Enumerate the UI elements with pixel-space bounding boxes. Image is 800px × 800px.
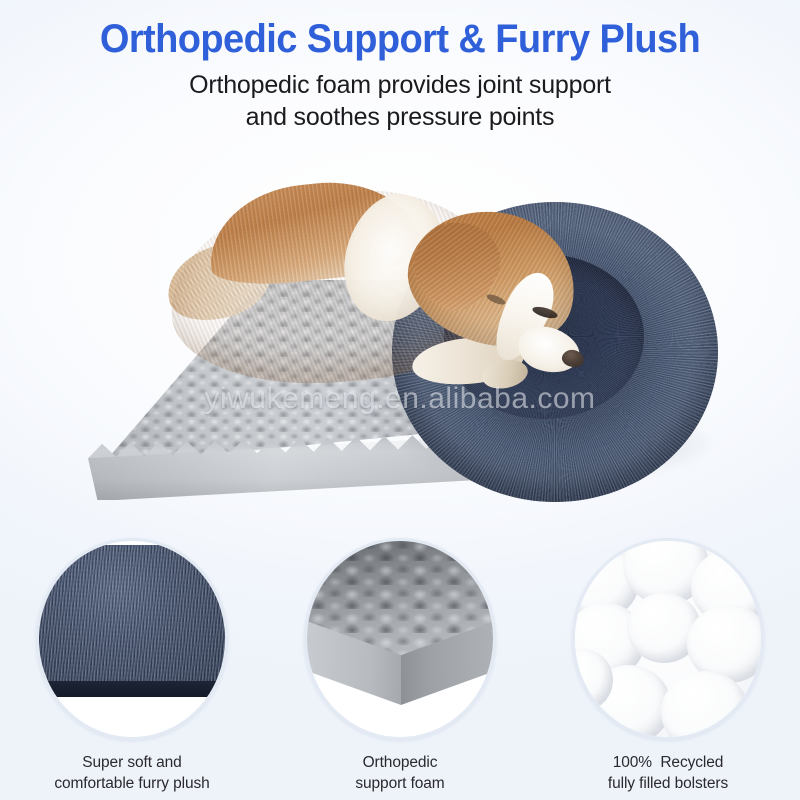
feature-caption-fiberfill: 100% Recycled fully filled bolsters [562, 752, 774, 794]
feature-item-fiberfill: 100% Recycled fully filled bolsters [562, 530, 774, 794]
feature-item-foam: Orthopedic support foam [294, 530, 506, 794]
page-title: Orthopedic Support & Furry Plush [20, 15, 780, 63]
plush-swatch-edge [36, 681, 228, 697]
page-subtitle: Orthopedic foam provides joint support a… [0, 69, 800, 133]
caption-line-2: support foam [294, 773, 506, 794]
caption-line-1: 100% Recycled [562, 752, 774, 773]
caption-line-2: comfortable furry plush [26, 773, 238, 794]
hero-product-image: yiwukemeng.en.alibaba.com [0, 150, 800, 530]
product-infographic-page: Orthopedic Support & Furry Plush Orthope… [0, 0, 800, 800]
caption-line-1: Orthopedic [294, 752, 506, 773]
plush-swatch-fibers [36, 545, 228, 695]
header-section: Orthopedic Support & Furry Plush Orthope… [0, 0, 800, 150]
caption-line-2: fully filled bolsters [562, 773, 774, 794]
feature-caption-foam: Orthopedic support foam [294, 752, 506, 794]
egg-crate-foam-swatch-icon [304, 538, 496, 740]
caption-line-1: Super soft and [26, 752, 238, 773]
feature-item-plush: Super soft and comfortable furry plush [26, 530, 238, 794]
subtitle-line-1: Orthopedic foam provides joint support [0, 69, 800, 101]
sleeping-dog [150, 150, 670, 450]
subtitle-line-2: and soothes pressure points [0, 101, 800, 133]
feature-highlights: Super soft and comfortable furry plush O… [0, 530, 800, 800]
plush-fur-swatch-icon [36, 538, 228, 740]
feature-caption-plush: Super soft and comfortable furry plush [26, 752, 238, 794]
fiberfill-swatch-icon [572, 538, 764, 740]
